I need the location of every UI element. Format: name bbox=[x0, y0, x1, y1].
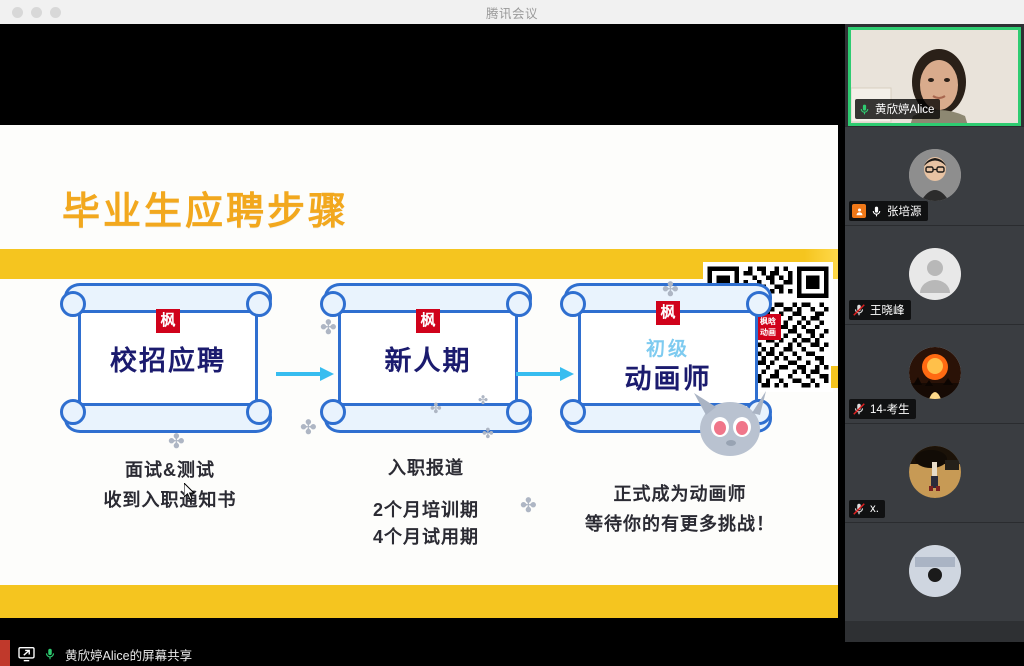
scroll-curl-bottom-icon bbox=[324, 403, 532, 433]
microphone-icon bbox=[858, 103, 871, 116]
avatar bbox=[909, 446, 961, 498]
flow-step-2-label: 新人期 bbox=[330, 339, 526, 378]
window-title: 腾讯会议 bbox=[0, 3, 1024, 22]
microphone-icon bbox=[870, 205, 883, 218]
presentation-slide: 毕业生应聘步骤 bbox=[0, 125, 838, 618]
shared-screen-stage[interactable]: 毕业生应聘步骤 bbox=[0, 24, 845, 642]
host-badge-icon bbox=[852, 204, 866, 218]
caption-line: 入职报道 bbox=[326, 453, 526, 483]
slide-band-bottom bbox=[0, 585, 838, 618]
scroll-knob-icon bbox=[246, 399, 272, 425]
bottom-status-bar: 黄欣婷Alice的屏幕共享 bbox=[0, 642, 1024, 666]
scroll-knob-icon bbox=[246, 291, 272, 317]
flow-step-1-label: 校招应聘 bbox=[70, 339, 266, 378]
participant-tile-4[interactable]: 14-考生 bbox=[845, 324, 1024, 423]
caption-line: 收到入职通知书 bbox=[70, 485, 270, 515]
caption-line: 正式成为动画师 bbox=[565, 479, 795, 509]
participant-rail[interactable]: 黄欣婷Alice bbox=[845, 24, 1024, 642]
scroll-knob-icon bbox=[560, 399, 586, 425]
avatar bbox=[909, 149, 961, 201]
title-bar: 腾讯会议 bbox=[0, 0, 1024, 24]
scroll-knob-icon bbox=[560, 291, 586, 317]
participant-tile-1[interactable]: 黄欣婷Alice bbox=[848, 27, 1021, 126]
microphone-icon bbox=[43, 646, 57, 662]
leaf-decoration-icon: ✤ bbox=[300, 415, 317, 440]
caption-column-3: 正式成为动画师 等待你的有更多挑战！ bbox=[565, 479, 795, 539]
screen-share-icon bbox=[18, 647, 35, 662]
caption-line: 面试&测试 bbox=[70, 455, 270, 485]
recording-indicator bbox=[0, 640, 10, 666]
leaf-decoration-icon: ✤ bbox=[482, 425, 494, 442]
caption-line: 4个月试用期 bbox=[326, 525, 526, 549]
flow-step-3: 枫 初级 动画师 ✤ bbox=[570, 285, 766, 435]
participant-name-3: 王晓峰 bbox=[870, 302, 905, 318]
participant-name-2: 张培源 bbox=[887, 203, 922, 219]
flow-arrow-2-icon bbox=[516, 367, 578, 381]
flow-step-2: 枫 新人期 ✤ ✤ bbox=[330, 285, 526, 435]
participant-tile-5[interactable]: x. bbox=[845, 423, 1024, 522]
slide-title: 毕业生应聘步骤 bbox=[62, 180, 349, 235]
leaf-decoration-icon: ✤ bbox=[320, 315, 337, 340]
participant-tile-2[interactable]: 张培源 bbox=[845, 126, 1024, 225]
microphone-muted-icon bbox=[852, 303, 866, 317]
microphone-muted-icon bbox=[852, 402, 866, 416]
scroll-knob-icon bbox=[60, 291, 86, 317]
scroll-knob-icon bbox=[746, 291, 772, 317]
avatar bbox=[909, 347, 961, 399]
participant-nameplate-2: 张培源 bbox=[849, 201, 928, 221]
caption-line: 2个月培训期 bbox=[326, 495, 526, 525]
avatar bbox=[909, 545, 961, 597]
step-stamp-badge: 枫 bbox=[656, 301, 680, 325]
participant-name-4: 14-考生 bbox=[870, 401, 910, 417]
step-stamp-badge: 枫 bbox=[156, 309, 180, 333]
leaf-decoration-icon: ✤ bbox=[430, 400, 442, 417]
leaf-decoration-icon: ✤ bbox=[662, 277, 679, 302]
participant-nameplate-3: 王晓峰 bbox=[849, 300, 911, 320]
flow-arrow-1-icon bbox=[276, 367, 338, 381]
caption-line: 等待你的有更多挑战！ bbox=[565, 509, 795, 539]
mouse-cursor bbox=[184, 483, 196, 501]
tencent-meeting-window: 腾讯会议 毕业生应聘步骤 bbox=[0, 0, 1024, 666]
caption-column-2: 入职报道 2个月培训期 4个月试用期 bbox=[326, 453, 526, 549]
participant-nameplate-5: x. bbox=[849, 500, 885, 518]
flow-step-1: 枫 校招应聘 ✤ bbox=[70, 285, 266, 435]
leaf-decoration-icon: ✤ bbox=[478, 393, 488, 407]
scroll-knob-icon bbox=[506, 399, 532, 425]
scroll-knob-icon bbox=[60, 399, 86, 425]
participant-tile-6[interactable] bbox=[845, 522, 1024, 621]
caption-column-1: 面试&测试 收到入职通知书 bbox=[70, 455, 270, 515]
scroll-knob-icon bbox=[320, 399, 346, 425]
microphone-muted-icon bbox=[852, 502, 866, 516]
participant-name-1: 黄欣婷Alice bbox=[875, 101, 934, 117]
participant-name-5: x. bbox=[870, 503, 879, 515]
leaf-decoration-icon: ✤ bbox=[520, 493, 537, 518]
leaf-decoration-icon: ✤ bbox=[168, 429, 185, 454]
avatar bbox=[909, 248, 961, 300]
participant-tile-3[interactable]: 王晓峰 bbox=[845, 225, 1024, 324]
participant-nameplate-4: 14-考生 bbox=[849, 399, 916, 419]
mascot-character-icon bbox=[686, 381, 770, 459]
scroll-knob-icon bbox=[320, 291, 346, 317]
screen-share-status-label: 黄欣婷Alice的屏幕共享 bbox=[65, 645, 192, 664]
scroll-knob-icon bbox=[506, 291, 532, 317]
step-stamp-badge: 枫 bbox=[416, 309, 440, 333]
participant-nameplate-1: 黄欣婷Alice bbox=[855, 99, 940, 119]
